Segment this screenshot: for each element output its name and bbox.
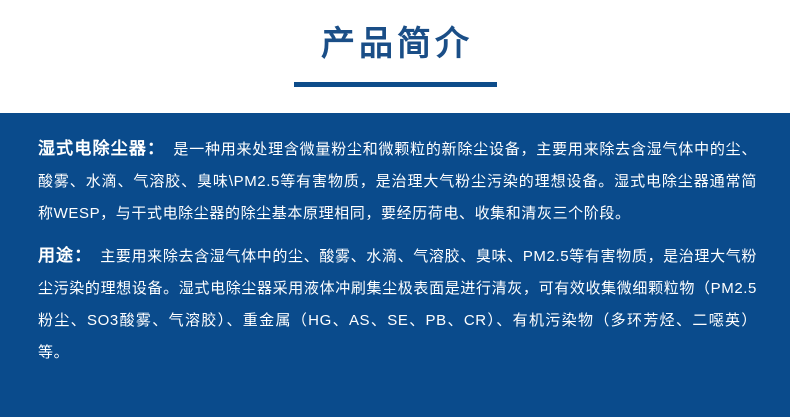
paragraph-lead-label: 用途： [38,246,92,265]
product-intro-page: 产品简介 湿式电除尘器：是一种用来处理含微量粉尘和微颗粒的新除尘设备，主要用来除… [0,0,790,417]
paragraph-product-definition: 湿式电除尘器：是一种用来处理含微量粉尘和微颗粒的新除尘设备，主要用来除去含湿气体… [38,133,757,230]
title-underline-divider [294,82,497,87]
page-header: 产品简介 [0,0,790,113]
paragraph-lead-label: 湿式电除尘器： [38,139,165,158]
description-panel: 湿式电除尘器：是一种用来处理含微量粉尘和微颗粒的新除尘设备，主要用来除去含湿气体… [0,113,790,417]
page-title: 产品简介 [317,22,473,66]
paragraph-product-usage: 用途：主要用来除去含湿气体中的尘、酸雾、水滴、气溶胶、臭味、PM2.5等有害物质… [38,240,757,369]
paragraph-body-text: 主要用来除去含湿气体中的尘、酸雾、水滴、气溶胶、臭味、PM2.5等有害物质，是治… [38,248,757,361]
